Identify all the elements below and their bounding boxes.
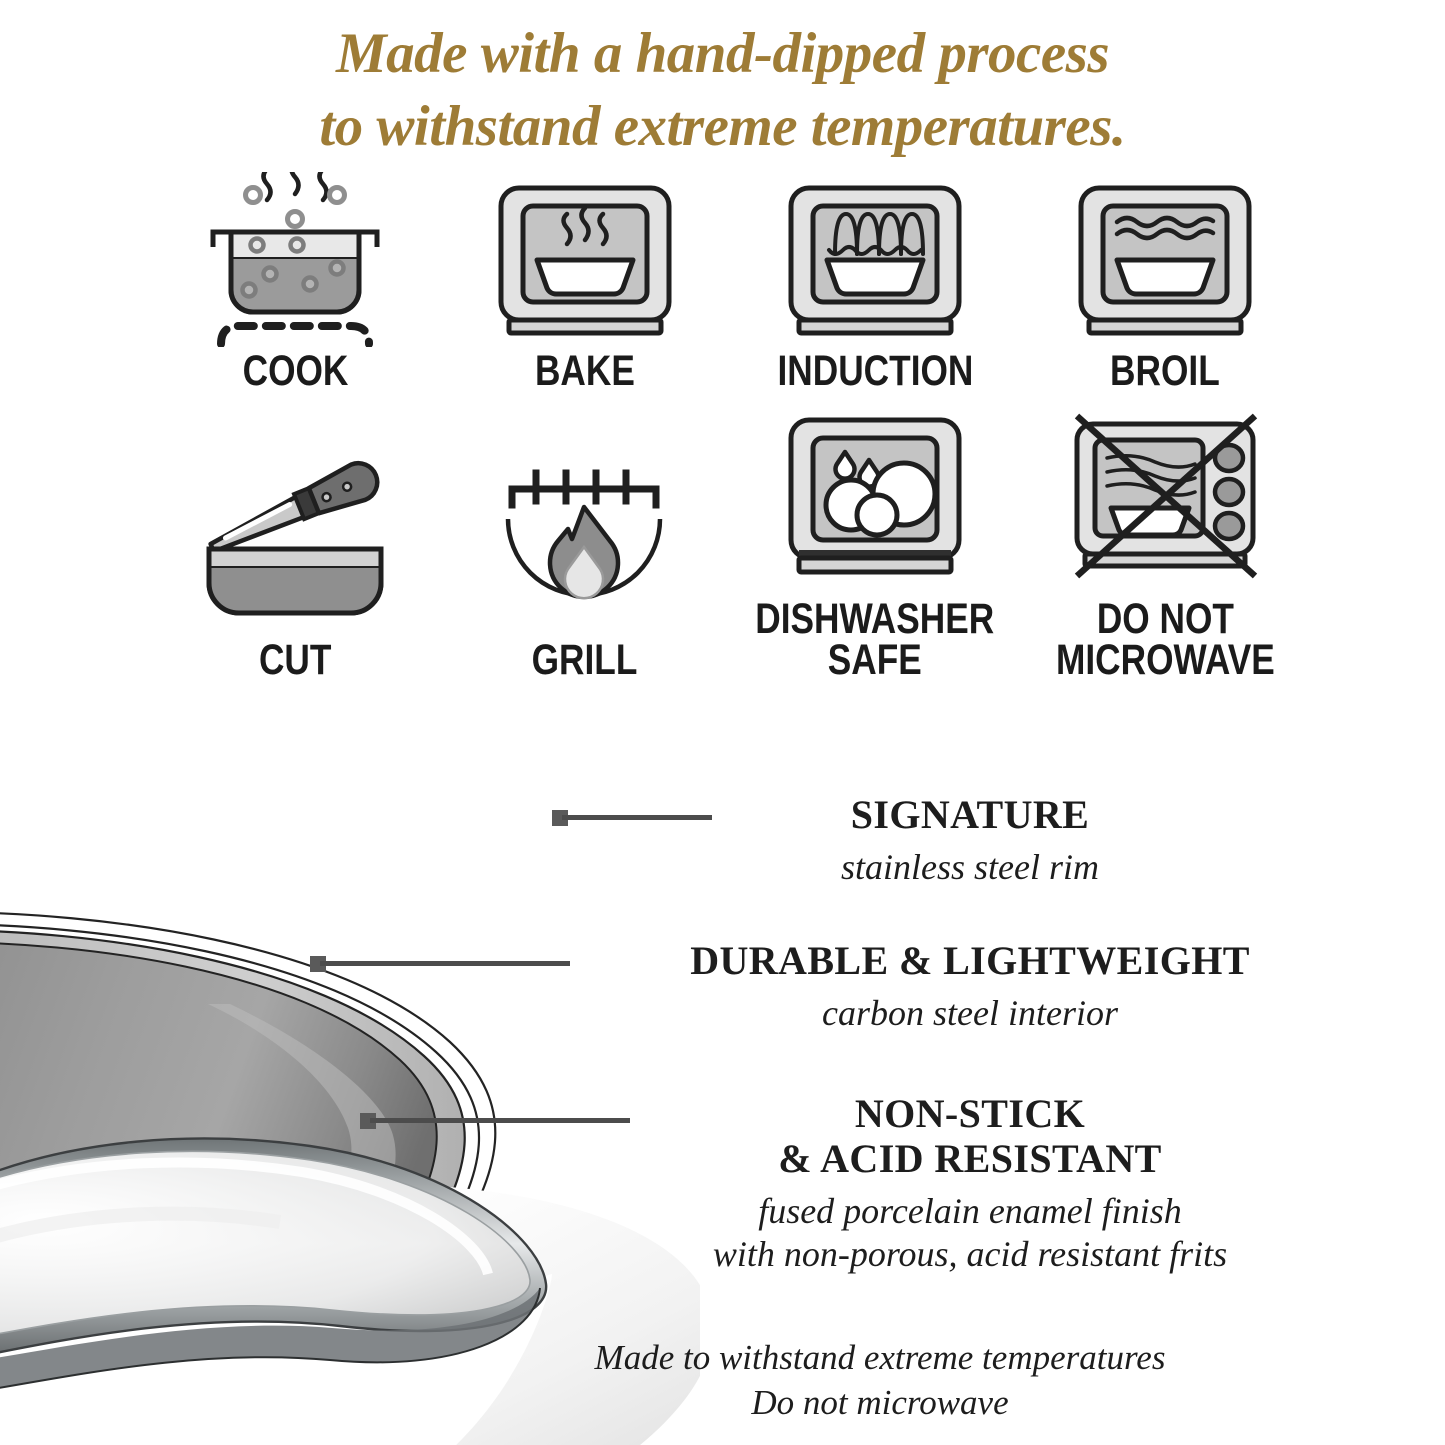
icon-cell-do-not-microwave: DO NOT MICROWAVE bbox=[1021, 410, 1311, 681]
broil-icon bbox=[1055, 172, 1275, 347]
callout-signature-title: SIGNATURE bbox=[600, 793, 1340, 838]
callout-durable-subtitle: carbon steel interior bbox=[600, 992, 1340, 1035]
headline-line-2: to withstand extreme temperatures. bbox=[0, 91, 1445, 164]
icon-label-cook: COOK bbox=[242, 351, 348, 392]
pot-cutaway-illustration bbox=[0, 612, 700, 1445]
callout-nonstick-title: NON-STICK & ACID RESISTANT bbox=[600, 1092, 1340, 1182]
icon-label-broil: BROIL bbox=[1110, 351, 1220, 392]
induction-icon bbox=[765, 172, 985, 347]
bake-icon bbox=[475, 172, 695, 347]
cut-icon bbox=[185, 451, 405, 636]
callout-leader-nonstick bbox=[370, 1118, 630, 1123]
icon-label-induction: INDUCTION bbox=[777, 351, 973, 392]
feature-icon-grid: COOK bbox=[150, 172, 1310, 681]
icon-cell-induction: INDUCTION bbox=[730, 172, 1020, 392]
icon-cell-cook: COOK bbox=[150, 172, 440, 392]
icon-label-dishwasher-safe: DISHWASHER SAFE bbox=[755, 599, 994, 681]
headline-line-1: Made with a hand-dipped process bbox=[0, 18, 1445, 91]
callout-nonstick-subtitle: fused porcelain enamel finish with non-p… bbox=[600, 1190, 1340, 1276]
product-infographic: Made with a hand-dipped process to withs… bbox=[0, 0, 1445, 1445]
icon-cell-broil: BROIL bbox=[1020, 172, 1310, 392]
callout-durable-title: DURABLE & LIGHTWEIGHT bbox=[600, 939, 1340, 984]
icon-row-1: COOK bbox=[150, 172, 1310, 392]
callout-signature-subtitle: stainless steel rim bbox=[600, 846, 1340, 889]
icon-label-bake: BAKE bbox=[535, 351, 635, 392]
icon-cell-bake: BAKE bbox=[440, 172, 730, 392]
icon-cell-dishwasher-safe: DISHWASHER SAFE bbox=[729, 410, 1020, 681]
icon-label-do-not-microwave: DO NOT MICROWAVE bbox=[1056, 599, 1275, 681]
page-headline: Made with a hand-dipped process to withs… bbox=[0, 18, 1445, 164]
do-not-microwave-icon bbox=[1055, 410, 1275, 595]
footer-note: Made to withstand extreme temperatures D… bbox=[430, 1336, 1330, 1426]
callout-signature: SIGNATURE stainless steel rim bbox=[600, 793, 1340, 889]
grill-icon bbox=[474, 451, 694, 636]
callout-leader-durable bbox=[320, 961, 570, 966]
cook-icon bbox=[185, 172, 405, 347]
callout-nonstick: NON-STICK & ACID RESISTANT fused porcela… bbox=[600, 1092, 1340, 1276]
callout-durable: DURABLE & LIGHTWEIGHT carbon steel inter… bbox=[600, 939, 1340, 1035]
dishwasher-safe-icon bbox=[765, 410, 985, 595]
